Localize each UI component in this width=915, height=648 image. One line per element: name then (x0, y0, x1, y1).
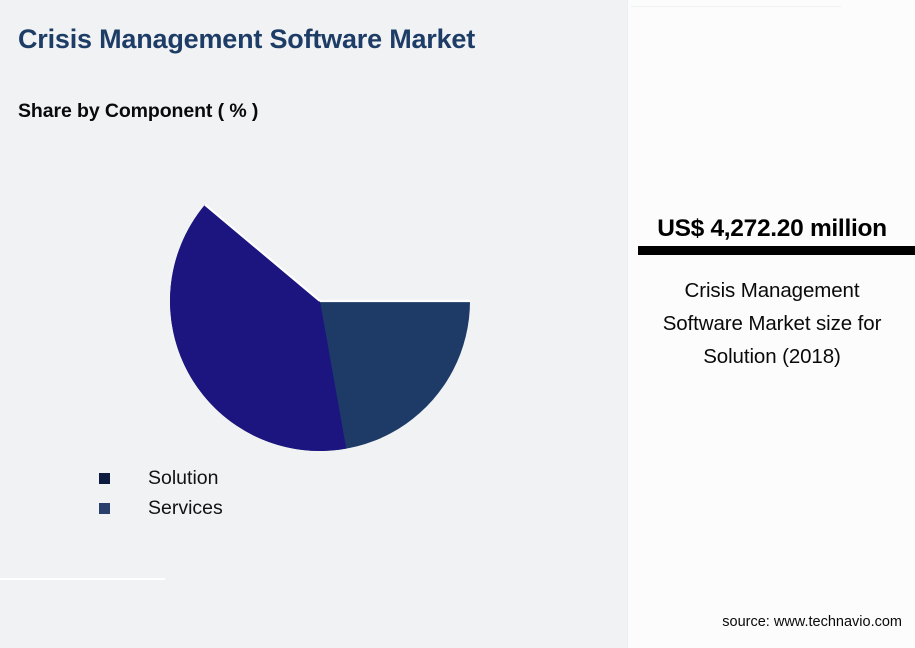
kpi-value: US$ 4,272.20 million (628, 215, 915, 243)
source-note: source: www.technavio.com (628, 613, 902, 631)
pie-chart-svg (170, 151, 470, 451)
pie-slice-services (170, 205, 346, 451)
top-divider (631, 6, 841, 7)
legend-swatch-icon-solution (99, 473, 110, 484)
kpi-underline-bar (638, 246, 915, 255)
chart-panel: Crisis Management Software Market Share … (0, 0, 627, 648)
pie-chart (170, 151, 470, 451)
chart-canvas: Crisis Management Software Market Share … (0, 0, 915, 648)
chart-legend: Solution Services (99, 463, 519, 523)
footer-divider (0, 578, 165, 580)
legend-item-solution[interactable]: Solution (99, 463, 519, 493)
legend-label-solution: Solution (148, 467, 218, 489)
kpi-description: Crisis Management Software Market size f… (642, 274, 902, 373)
kpi-panel: US$ 4,272.20 million Crisis Management S… (627, 0, 915, 648)
legend-swatch-icon-services (99, 503, 110, 514)
chart-subtitle: Share by Component ( % ) (18, 99, 258, 123)
legend-label-services: Services (148, 497, 223, 519)
page-title: Crisis Management Software Market (18, 24, 518, 55)
legend-item-services[interactable]: Services (99, 493, 519, 523)
